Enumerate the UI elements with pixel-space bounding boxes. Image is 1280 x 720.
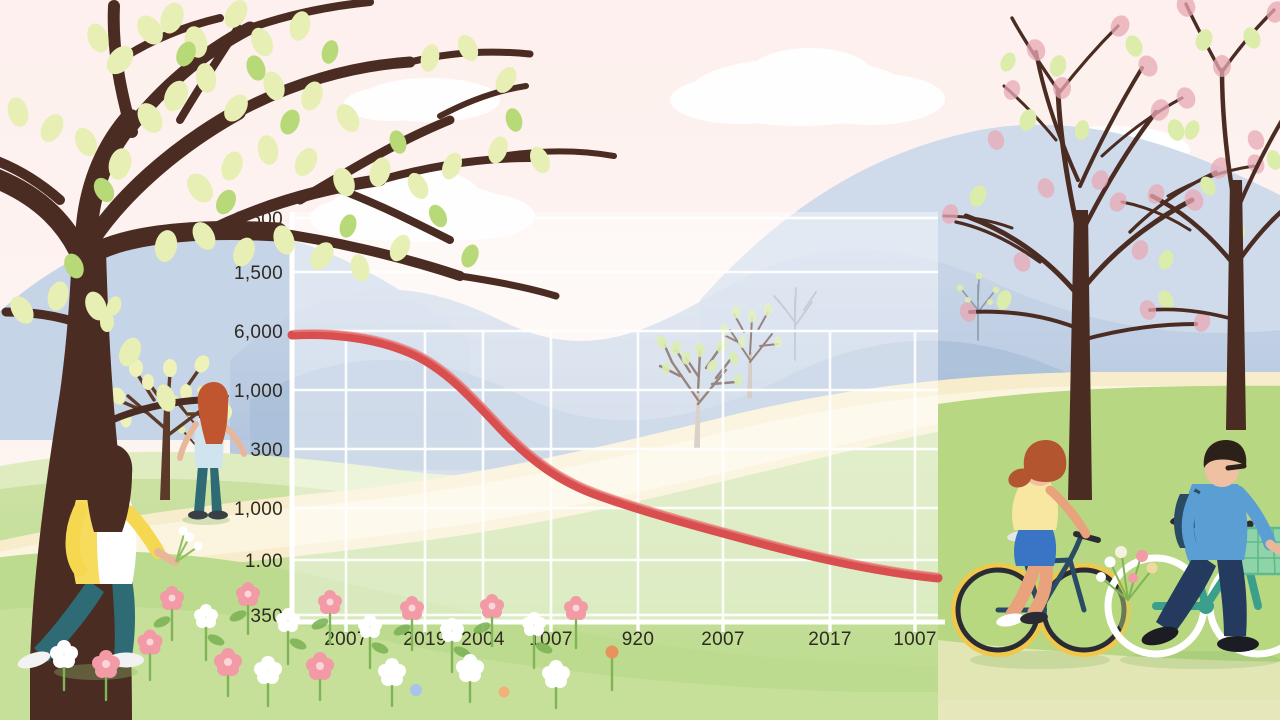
person-woman-cyclist <box>954 440 1128 669</box>
blossom-tree-right-b <box>1106 0 1280 430</box>
right-foreground <box>0 0 1280 720</box>
glasses <box>1228 466 1244 468</box>
blossom-tree-right-a <box>939 12 1268 500</box>
illustration-scene: 2,500 1,500 6,000 1,000 300 1,000 1.00 3… <box>0 0 1280 720</box>
person-man-with-bicycle <box>1108 440 1280 669</box>
